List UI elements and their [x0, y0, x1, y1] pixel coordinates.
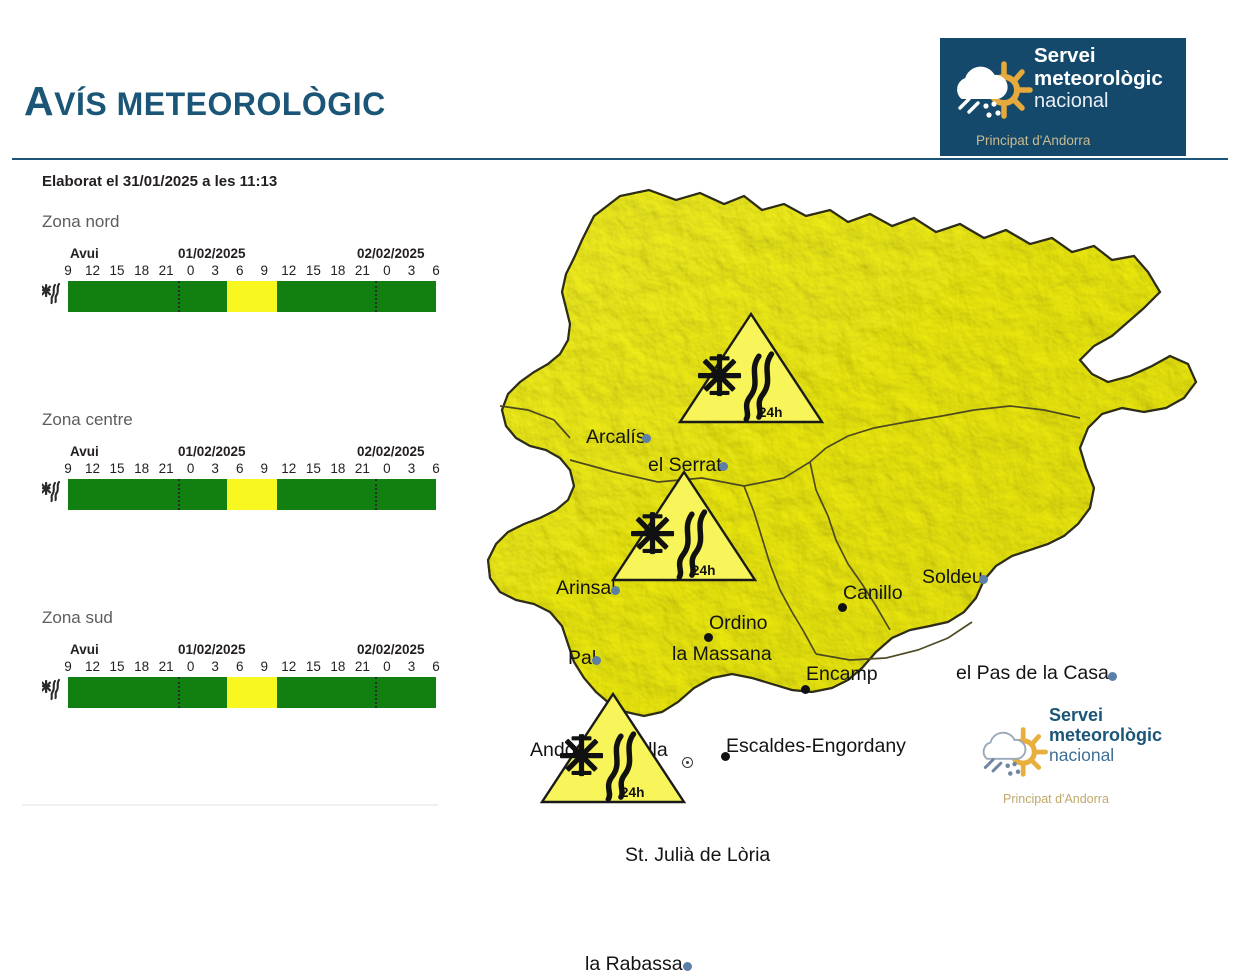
alert-segment-green [277, 677, 436, 708]
logo-footer-line-4: Principat d'Andorra [1003, 792, 1109, 806]
day-boundary-marker [178, 677, 180, 708]
warning-duration-sud: 24h [621, 785, 645, 800]
zone-timeline: Avui01/02/202502/02/20259121518210369121… [42, 642, 436, 708]
timeline-hour-label: 18 [330, 461, 345, 476]
timeline-hour-label: 3 [211, 659, 219, 674]
day-boundary-marker [375, 281, 377, 312]
alert-segment-yellow [227, 479, 276, 510]
timeline-hour-label: 3 [408, 659, 416, 674]
day-boundary-marker [178, 479, 180, 510]
timeline-hour-label: 15 [110, 461, 125, 476]
sun-behind-cloud-with-rain-and-snow-icon [975, 721, 1049, 795]
timeline-hour-label: 9 [261, 263, 269, 278]
timeline-hour-labels: 912151821036912151821036 [42, 263, 436, 281]
alert-segment-yellow [227, 281, 276, 312]
logo-line-2: meteorològic [1034, 67, 1176, 90]
timeline-hour-label: 21 [355, 461, 370, 476]
alert-segment-green [68, 479, 227, 510]
alert-segment-green [277, 479, 436, 510]
panel-divider [22, 804, 438, 806]
timeline-hour-label: 15 [306, 461, 321, 476]
andorra-warning-map: Arcalísel SerratArinsalSoldeuCanilloOrdi… [444, 160, 1240, 839]
zone-title: Zona centre [42, 410, 133, 430]
timeline-hour-label: 15 [110, 659, 125, 674]
timeline-hour-label: 15 [110, 263, 125, 278]
city-marker-dot [683, 962, 692, 971]
timeline-hour-label: 0 [383, 263, 391, 278]
city-marker-dot [838, 603, 847, 612]
timeline-hour-label: 0 [383, 461, 391, 476]
andorra-country-shape [488, 190, 1196, 716]
logo-footer-line-2: meteorològic [1049, 725, 1200, 745]
page-title-initial: A [24, 78, 54, 124]
alert-segment-green [277, 281, 436, 312]
timeline-day-label: 01/02/2025 [178, 642, 246, 657]
city-label: Arcalís [586, 426, 646, 449]
timeline-hour-label: 9 [64, 263, 72, 278]
timeline-hour-label: 0 [383, 659, 391, 674]
timeline-hour-label: 12 [281, 263, 296, 278]
city-marker-dot [1108, 672, 1117, 681]
city-marker-dot [642, 434, 651, 443]
timeline-hour-label: 12 [281, 659, 296, 674]
city-marker-dot [704, 633, 713, 642]
city-label: Arinsal [556, 577, 616, 600]
timeline-hour-label: 3 [408, 263, 416, 278]
timeline-hour-label: 12 [281, 461, 296, 476]
logo-header: Servei meteorològic nacional Principat d… [938, 36, 1188, 158]
timeline-hour-label: 12 [85, 659, 100, 674]
timeline-hour-label: 18 [134, 263, 149, 278]
timeline-hour-label: 21 [159, 263, 174, 278]
warning-duration-nord: 24h [759, 405, 783, 420]
zone-title: Zona sud [42, 608, 113, 628]
timeline-day-label: Avui [70, 246, 99, 261]
page-title: AVÍS METEOROLÒGIC [24, 78, 386, 125]
warning-duration-centre: 24h [692, 563, 716, 578]
timeline-hour-label: 12 [85, 461, 100, 476]
timeline-day-label: Avui [70, 444, 99, 459]
timeline-day-headers: Avui01/02/202502/02/2025 [42, 444, 436, 461]
city-label: Ordino [709, 612, 768, 635]
page-header: AVÍS METEOROLÒGIC [0, 0, 1240, 160]
city-label: la Massana [672, 643, 772, 666]
city-label: St. Julià de Lòria [625, 844, 770, 867]
timeline-hour-label: 15 [306, 263, 321, 278]
timeline-hour-label: 15 [306, 659, 321, 674]
day-boundary-marker [375, 677, 377, 708]
city-label: Canillo [843, 582, 903, 605]
timeline-day-label: 02/02/2025 [357, 246, 425, 261]
timeline-hour-label: 18 [134, 659, 149, 674]
timeline-hour-label: 0 [187, 659, 195, 674]
timeline-hour-label: 6 [236, 263, 244, 278]
timeline-day-headers: Avui01/02/202502/02/2025 [42, 642, 436, 659]
zone-title: Zona nord [42, 212, 120, 232]
city-marker-dot [801, 685, 810, 694]
snow-wind-icon [42, 480, 66, 508]
timeline-day-label: Avui [70, 642, 99, 657]
timeline-day-headers: Avui01/02/202502/02/2025 [42, 246, 436, 263]
city-label: el Pas de la Casa [956, 662, 1109, 685]
timeline-hour-label: 3 [408, 461, 416, 476]
alert-segment-green [68, 281, 227, 312]
timeline-hour-label: 3 [211, 461, 219, 476]
alert-level-bar[interactable] [68, 281, 436, 312]
day-boundary-marker [178, 281, 180, 312]
logo-line-4: Principat d'Andorra [976, 133, 1090, 148]
logo-footer-line-3: nacional [1049, 745, 1200, 765]
timeline-hour-label: 3 [211, 263, 219, 278]
alert-level-bar[interactable] [68, 479, 436, 510]
snow-wind-icon [42, 282, 66, 310]
city-marker-dot [979, 575, 988, 584]
city-label: Soldeu [922, 566, 983, 589]
timeline-hour-label: 12 [85, 263, 100, 278]
timeline-day-label: 01/02/2025 [178, 444, 246, 459]
city-marker-dot [592, 656, 601, 665]
timeline-hour-label: 9 [261, 659, 269, 674]
sun-behind-cloud-with-rain-and-snow-icon [948, 54, 1034, 140]
alert-segment-yellow [227, 677, 276, 708]
city-label: Encamp [806, 663, 878, 686]
timeline-hour-label: 21 [159, 659, 174, 674]
timeline-hour-label: 6 [236, 461, 244, 476]
timeline-hour-label: 9 [64, 659, 72, 674]
timeline-day-label: 02/02/2025 [357, 444, 425, 459]
zone-timeline: Avui01/02/202502/02/20259121518210369121… [42, 246, 436, 312]
timeline-day-label: 02/02/2025 [357, 642, 425, 657]
timeline-hour-label: 18 [330, 659, 345, 674]
page-title-rest: VÍS METEOROLÒGIC [54, 86, 386, 122]
warning-triangle-nord: 24h [676, 308, 826, 428]
snow-wind-icon [42, 678, 66, 706]
timeline-hour-label: 0 [187, 461, 195, 476]
timeline-hour-label: 6 [432, 461, 440, 476]
timeline-hour-label: 9 [261, 461, 269, 476]
timeline-hour-label: 6 [236, 659, 244, 674]
timeline-hour-label: 21 [355, 659, 370, 674]
timeline-hour-label: 6 [432, 263, 440, 278]
timeline-hour-label: 6 [432, 659, 440, 674]
timeline-hour-label: 9 [64, 461, 72, 476]
city-label: Escaldes-Engordany [726, 735, 906, 758]
logo-line-3: nacional [1034, 90, 1176, 113]
timeline-hour-label: 18 [134, 461, 149, 476]
logo-footer: Servei meteorològic nacional Principat d… [975, 705, 1200, 810]
issued-timestamp: Elaborat el 31/01/2025 a les 11:13 [42, 173, 277, 190]
timeline-hour-labels: 912151821036912151821036 [42, 461, 436, 479]
city-label: la Rabassa [585, 953, 683, 976]
city-marker-dot [611, 586, 620, 595]
zones-panel: Elaborat el 31/01/2025 a les 11:13 Zona … [0, 160, 444, 839]
timeline-hour-label: 21 [355, 263, 370, 278]
day-boundary-marker [375, 479, 377, 510]
timeline-day-label: 01/02/2025 [178, 246, 246, 261]
alert-segment-green [68, 677, 227, 708]
timeline-hour-label: 0 [187, 263, 195, 278]
warning-triangle-sud: 24h [538, 688, 688, 808]
zone-timeline: Avui01/02/202502/02/20259121518210369121… [42, 444, 436, 510]
city-marker-dot [721, 752, 730, 761]
alert-level-bar[interactable] [68, 677, 436, 708]
timeline-hour-label: 21 [159, 461, 174, 476]
logo-line-1: Servei [1034, 44, 1176, 67]
timeline-hour-label: 18 [330, 263, 345, 278]
logo-footer-line-1: Servei [1049, 705, 1200, 725]
warning-triangle-centre: 24h [609, 466, 759, 586]
timeline-hour-labels: 912151821036912151821036 [42, 659, 436, 677]
